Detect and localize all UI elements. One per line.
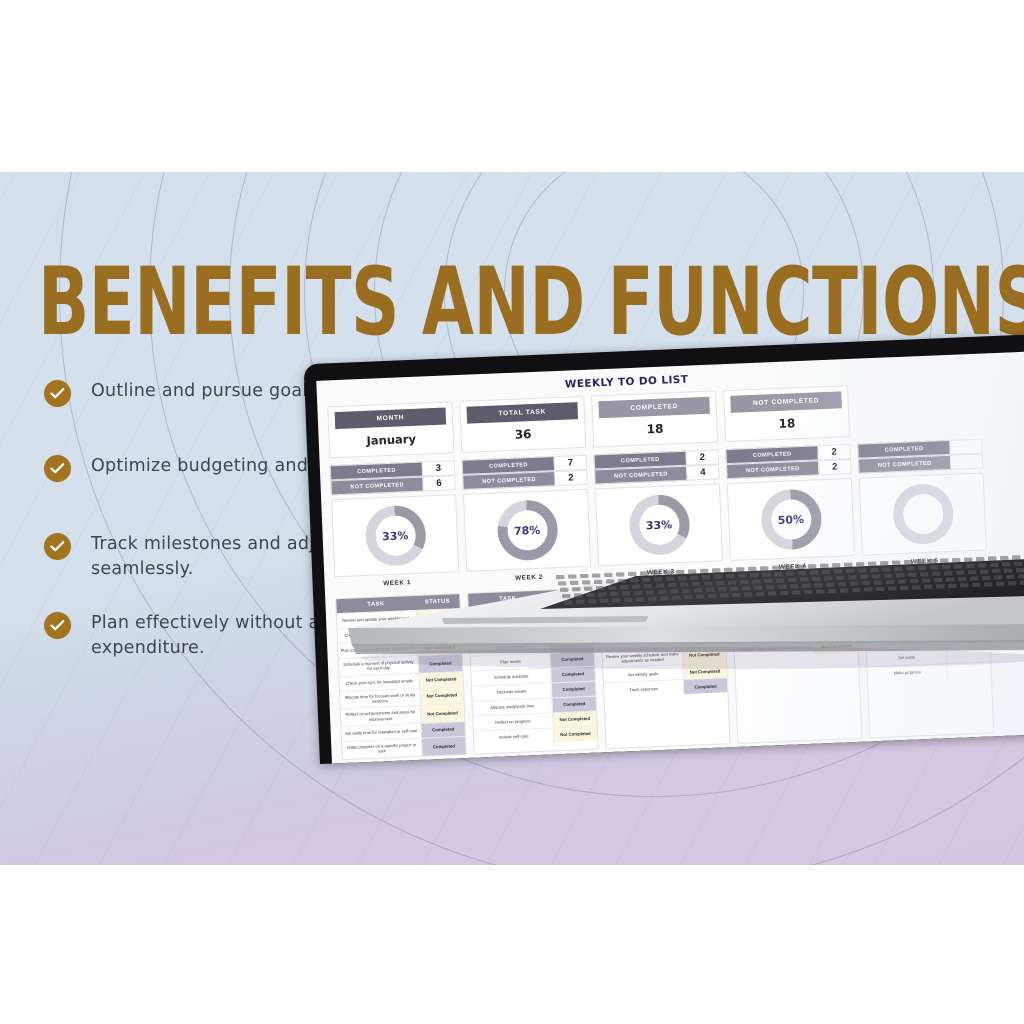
slide-canvas: BENEFITS AND FUNCTIONS Outline and pursu… bbox=[0, 172, 1024, 865]
laptop-base bbox=[0, 172, 1024, 865]
